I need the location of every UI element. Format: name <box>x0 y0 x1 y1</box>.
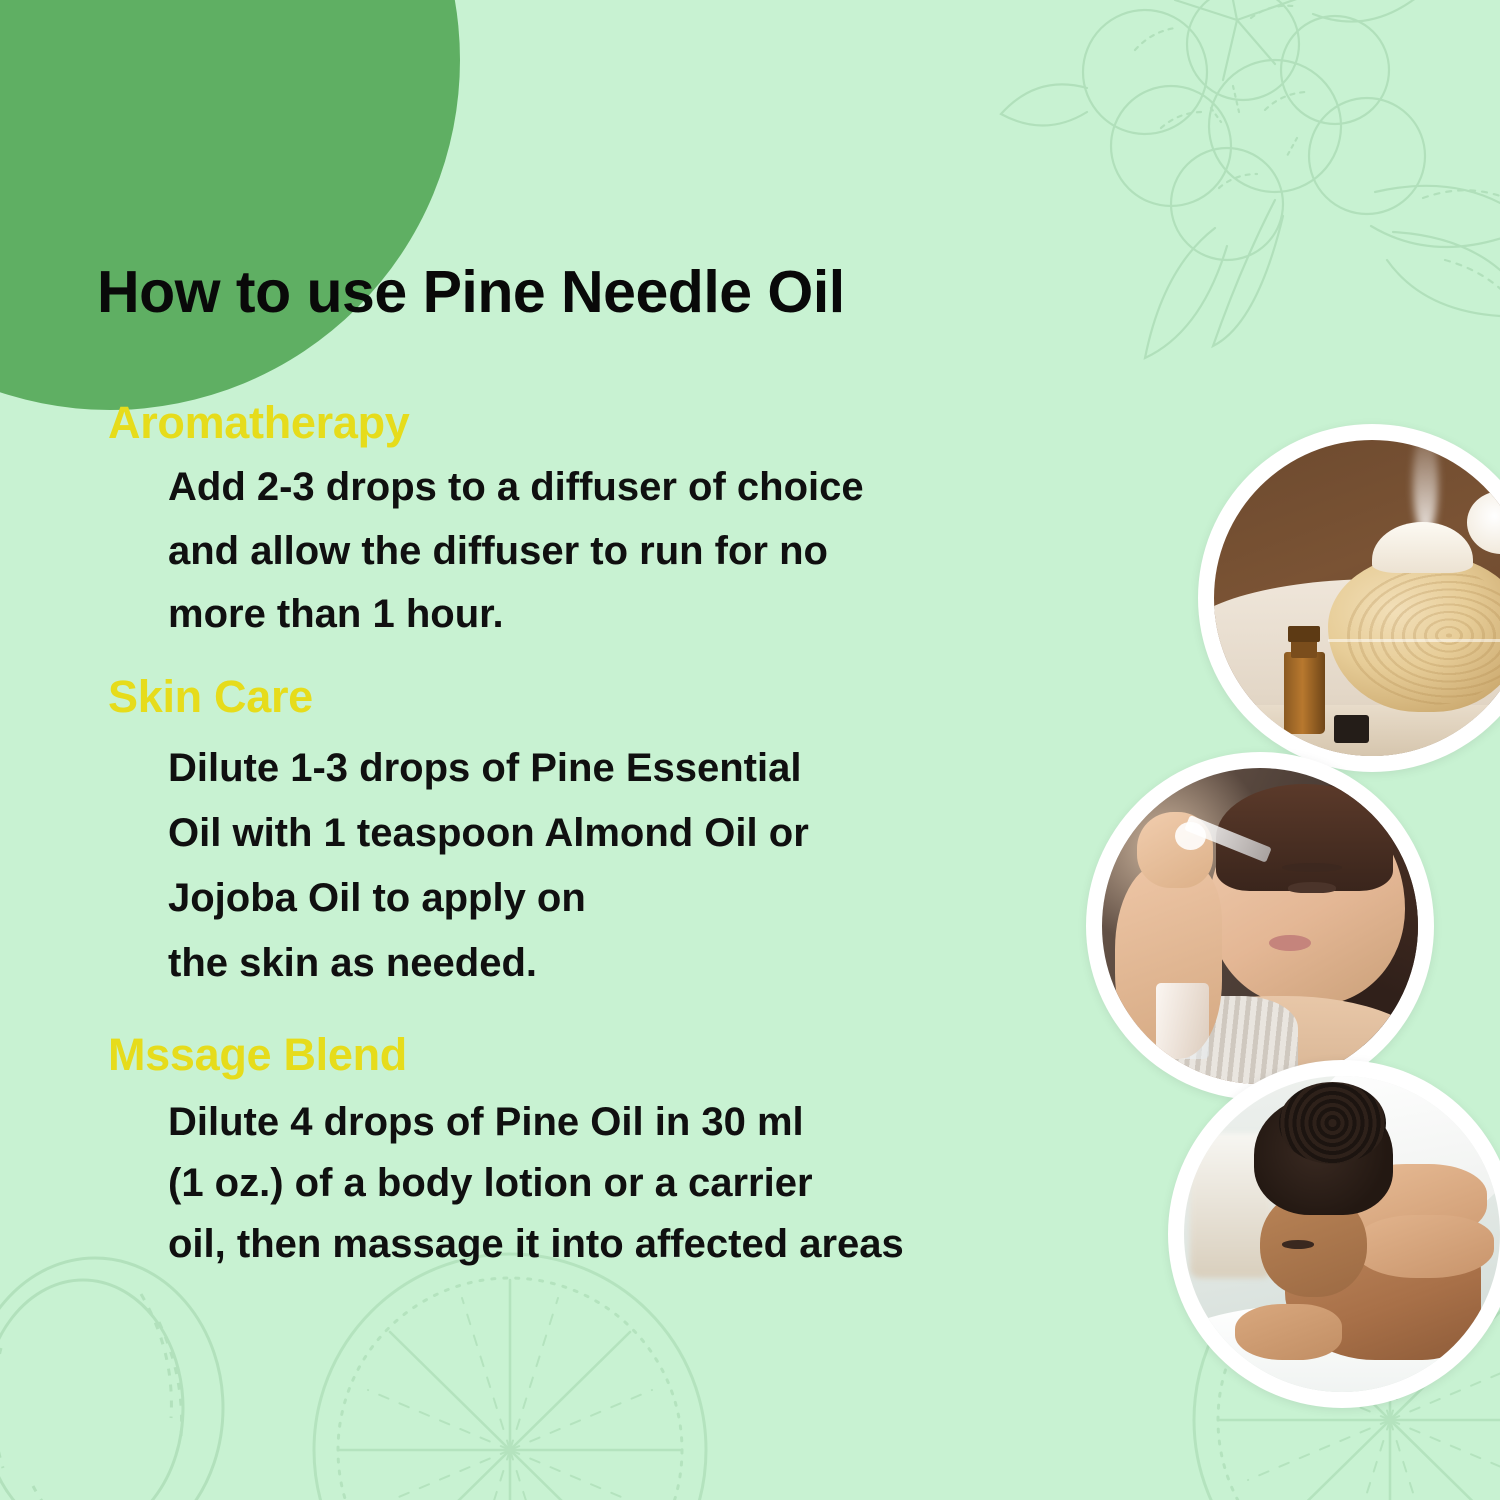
fruit-line-art-watermark-icon <box>0 1240 275 1500</box>
body-line: Jojoba Oil to apply on <box>168 866 1010 931</box>
body-line: oil, then massage it into affected areas <box>168 1214 1010 1275</box>
section-aromatherapy: Aromatherapy Add 2-3 drops to a diffuser… <box>0 398 1060 646</box>
photo-massage-image <box>1184 1076 1500 1392</box>
botanical-berries-watermark-icon <box>975 0 1500 430</box>
photo-diffuser-image <box>1214 440 1500 756</box>
page-title: How to use Pine Needle Oil <box>97 258 845 326</box>
section-body-skin-care: Dilute 1-3 drops of Pine Essential Oil w… <box>0 736 1010 995</box>
photo-massage: Woman lying on a massage table receiving… <box>1168 1060 1500 1408</box>
section-skin-care: Skin Care Dilute 1-3 drops of Pine Essen… <box>0 672 1060 996</box>
body-line: Add 2-3 drops to a diffuser of choice <box>168 456 1010 519</box>
body-line: the skin as needed. <box>168 931 1010 996</box>
section-massage-blend: Mssage Blend Dilute 4 drops of Pine Oil … <box>0 1030 1060 1276</box>
brand-accent-circle <box>0 0 460 410</box>
body-line: more than 1 hour. <box>168 583 1010 646</box>
citrus-slice-watermark-icon <box>300 1240 720 1500</box>
photo-skincare-alt: Woman with eyes closed applying facial s… <box>1086 752 1087 753</box>
photo-diffuser: Wooden essential oil diffuser releasing … <box>1198 424 1500 772</box>
instructions-list: Aromatherapy Add 2-3 drops to a diffuser… <box>0 398 1060 1275</box>
body-line: Dilute 4 drops of Pine Oil in 30 ml <box>168 1092 1010 1153</box>
photo-diffuser-alt: Wooden essential oil diffuser releasing … <box>1198 424 1199 425</box>
section-heading-massage-blend: Mssage Blend <box>0 1030 1060 1080</box>
section-body-massage-blend: Dilute 4 drops of Pine Oil in 30 ml (1 o… <box>0 1092 1010 1276</box>
infographic-poster: How to use Pine Needle Oil Aromatherapy … <box>0 0 1500 1500</box>
section-body-aromatherapy: Add 2-3 drops to a diffuser of choice an… <box>0 456 1010 646</box>
photo-skincare: Woman with eyes closed applying facial s… <box>1086 752 1434 1100</box>
section-heading-skin-care: Skin Care <box>0 672 1060 722</box>
body-line: Dilute 1-3 drops of Pine Essential <box>168 736 1010 801</box>
photo-skincare-image <box>1102 768 1418 1084</box>
body-line: Oil with 1 teaspoon Almond Oil or <box>168 801 1010 866</box>
body-line: and allow the diffuser to run for no <box>168 520 1010 583</box>
section-heading-aromatherapy: Aromatherapy <box>0 398 1060 448</box>
body-line: (1 oz.) of a body lotion or a carrier <box>168 1153 1010 1214</box>
